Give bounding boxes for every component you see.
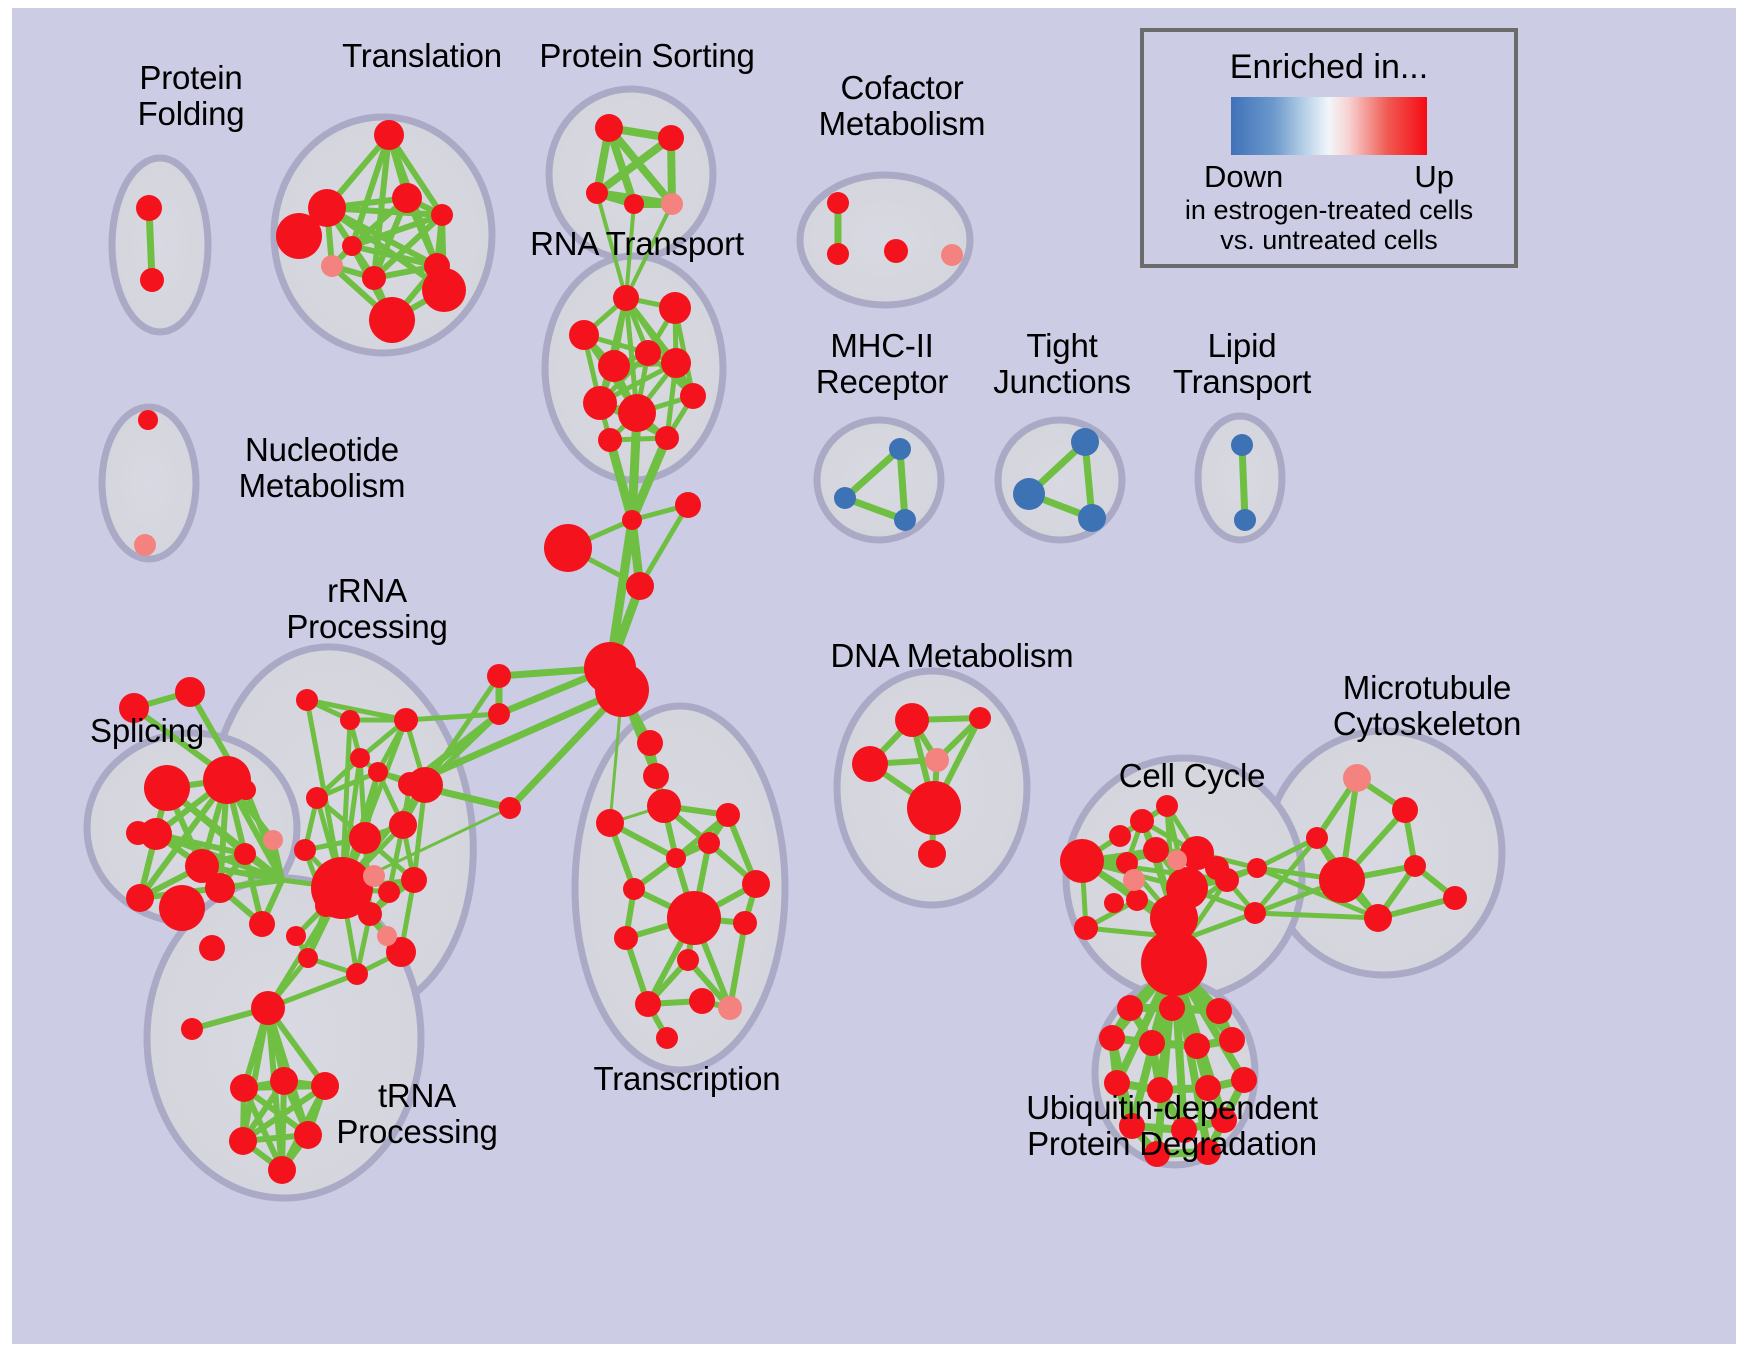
- node: [126, 884, 154, 912]
- legend-caption-line2: vs. untreated cells: [1144, 225, 1514, 255]
- node: [368, 762, 388, 782]
- node: [643, 763, 669, 789]
- node: [586, 182, 608, 204]
- node: [126, 821, 150, 845]
- node: [487, 664, 511, 688]
- node: [340, 710, 360, 730]
- node: [350, 748, 370, 768]
- node: [598, 428, 622, 452]
- node: [136, 195, 162, 221]
- node: [659, 292, 691, 324]
- node: [181, 1018, 203, 1040]
- node: [276, 213, 322, 259]
- node: [140, 268, 164, 292]
- node: [613, 285, 639, 311]
- legend-box: Enriched in... Down Up in estrogen-treat…: [1140, 28, 1518, 268]
- node: [675, 492, 701, 518]
- node: [1060, 839, 1104, 883]
- node: [827, 243, 849, 265]
- node: [647, 789, 681, 823]
- node: [884, 239, 908, 263]
- node: [1206, 998, 1232, 1024]
- node: [205, 873, 235, 903]
- node: [624, 194, 644, 214]
- node-mid: [718, 996, 742, 1020]
- node: [637, 730, 663, 756]
- node: [1141, 930, 1207, 996]
- node: [1074, 916, 1098, 940]
- node: [716, 803, 740, 827]
- node: [1211, 1107, 1237, 1133]
- node: [1443, 886, 1467, 910]
- node: [1231, 1067, 1257, 1093]
- node: [1306, 827, 1328, 849]
- node: [401, 867, 427, 893]
- node: [733, 911, 757, 935]
- legend-end-labels: Down Up: [1204, 159, 1454, 195]
- node: [1126, 889, 1148, 911]
- node-mid: [1343, 764, 1371, 792]
- node: [623, 878, 645, 900]
- node: [1364, 904, 1392, 932]
- node-mid: [1167, 850, 1187, 870]
- node: [666, 848, 686, 868]
- node: [598, 350, 630, 382]
- node: [394, 708, 418, 732]
- node: [1071, 428, 1099, 456]
- node: [398, 772, 422, 796]
- node: [583, 386, 617, 420]
- node: [294, 1121, 322, 1149]
- node: [1104, 893, 1124, 913]
- cluster-ellipse-mhc-ii-receptor[interactable]: [817, 420, 941, 540]
- node: [667, 891, 721, 945]
- legend-title: Enriched in...: [1144, 48, 1514, 87]
- node: [1231, 434, 1253, 456]
- node: [349, 822, 381, 854]
- node: [159, 885, 205, 931]
- node-mid: [134, 534, 156, 556]
- node: [895, 703, 929, 737]
- node: [1147, 1077, 1173, 1103]
- node: [622, 510, 642, 530]
- node: [1159, 995, 1185, 1021]
- node: [658, 125, 684, 151]
- node: [369, 297, 415, 343]
- node: [1078, 504, 1106, 532]
- node: [656, 1027, 678, 1049]
- node: [827, 192, 849, 214]
- node: [311, 1072, 339, 1100]
- node: [626, 572, 654, 600]
- node: [270, 1067, 298, 1095]
- node: [138, 410, 158, 430]
- network-canvas: Protein Folding Translation Protein Sort…: [12, 8, 1736, 1344]
- node: [834, 487, 856, 509]
- node: [362, 266, 386, 290]
- node: [635, 991, 661, 1017]
- node: [499, 797, 521, 819]
- node: [346, 963, 368, 985]
- node: [315, 895, 337, 917]
- node: [596, 809, 624, 837]
- node: [199, 935, 225, 961]
- node-mid: [941, 244, 963, 266]
- node: [175, 677, 205, 707]
- node-mid: [363, 865, 385, 887]
- node: [286, 926, 306, 946]
- legend-high-label: Up: [1414, 159, 1454, 195]
- node: [1099, 1025, 1125, 1051]
- node: [852, 746, 888, 782]
- figure-root: Protein Folding Translation Protein Sort…: [0, 0, 1750, 1360]
- node: [595, 663, 649, 717]
- node: [1119, 1113, 1145, 1139]
- node: [144, 765, 190, 811]
- node: [1244, 902, 1266, 924]
- node: [1195, 1139, 1221, 1165]
- node: [635, 340, 661, 366]
- node: [119, 693, 149, 723]
- legend-caption-line1: in estrogen-treated cells: [1144, 195, 1514, 225]
- node: [294, 839, 316, 861]
- node: [1130, 809, 1154, 833]
- node: [1143, 837, 1169, 863]
- node: [677, 949, 699, 971]
- edges-lipid-transport: [1242, 445, 1245, 520]
- node: [230, 1074, 258, 1102]
- node: [1404, 855, 1426, 877]
- node-mid: [263, 830, 283, 850]
- node: [969, 707, 991, 729]
- node: [389, 811, 417, 839]
- node: [655, 426, 679, 450]
- node: [1171, 1117, 1197, 1143]
- node: [1013, 478, 1045, 510]
- node: [544, 524, 592, 572]
- node: [1104, 1070, 1130, 1096]
- legend-low-label: Down: [1204, 159, 1283, 195]
- node: [298, 948, 318, 968]
- node: [342, 236, 362, 256]
- node: [422, 268, 466, 312]
- node: [358, 902, 382, 926]
- node: [680, 383, 706, 409]
- node: [1247, 858, 1267, 878]
- node: [618, 394, 656, 432]
- node: [296, 689, 318, 711]
- node-mid: [377, 926, 397, 946]
- node: [1195, 1075, 1221, 1101]
- cluster-ellipse-protein-folding[interactable]: [112, 158, 208, 332]
- node: [614, 926, 638, 950]
- node: [1117, 995, 1143, 1021]
- legend-color-gradient: [1231, 97, 1427, 155]
- node: [249, 911, 275, 937]
- node: [907, 781, 961, 835]
- node: [488, 703, 510, 725]
- node-mid: [925, 748, 949, 772]
- node: [742, 870, 770, 898]
- node: [1234, 509, 1256, 531]
- node: [689, 988, 715, 1014]
- node: [431, 204, 453, 226]
- node: [1319, 857, 1365, 903]
- node: [251, 991, 285, 1025]
- node-mid: [1123, 869, 1145, 891]
- node: [374, 120, 404, 150]
- node: [1109, 825, 1131, 847]
- node: [595, 114, 623, 142]
- node: [203, 756, 251, 804]
- node: [1139, 1030, 1165, 1056]
- node: [1144, 1141, 1170, 1167]
- node: [569, 320, 599, 350]
- node-mid: [661, 193, 683, 215]
- node: [1156, 795, 1178, 817]
- node: [268, 1156, 296, 1184]
- node: [392, 183, 422, 213]
- node: [889, 438, 911, 460]
- node: [1219, 1027, 1245, 1053]
- node: [661, 348, 691, 378]
- node: [378, 881, 400, 903]
- cluster-ellipse-cofactor-metabolism[interactable]: [800, 175, 970, 305]
- node: [1205, 856, 1229, 880]
- node: [918, 840, 946, 868]
- node-mid: [321, 255, 343, 277]
- node: [698, 832, 720, 854]
- node: [306, 787, 328, 809]
- node: [1392, 797, 1418, 823]
- node: [229, 1127, 257, 1155]
- node: [894, 509, 916, 531]
- node: [234, 843, 256, 865]
- node: [1184, 1033, 1210, 1059]
